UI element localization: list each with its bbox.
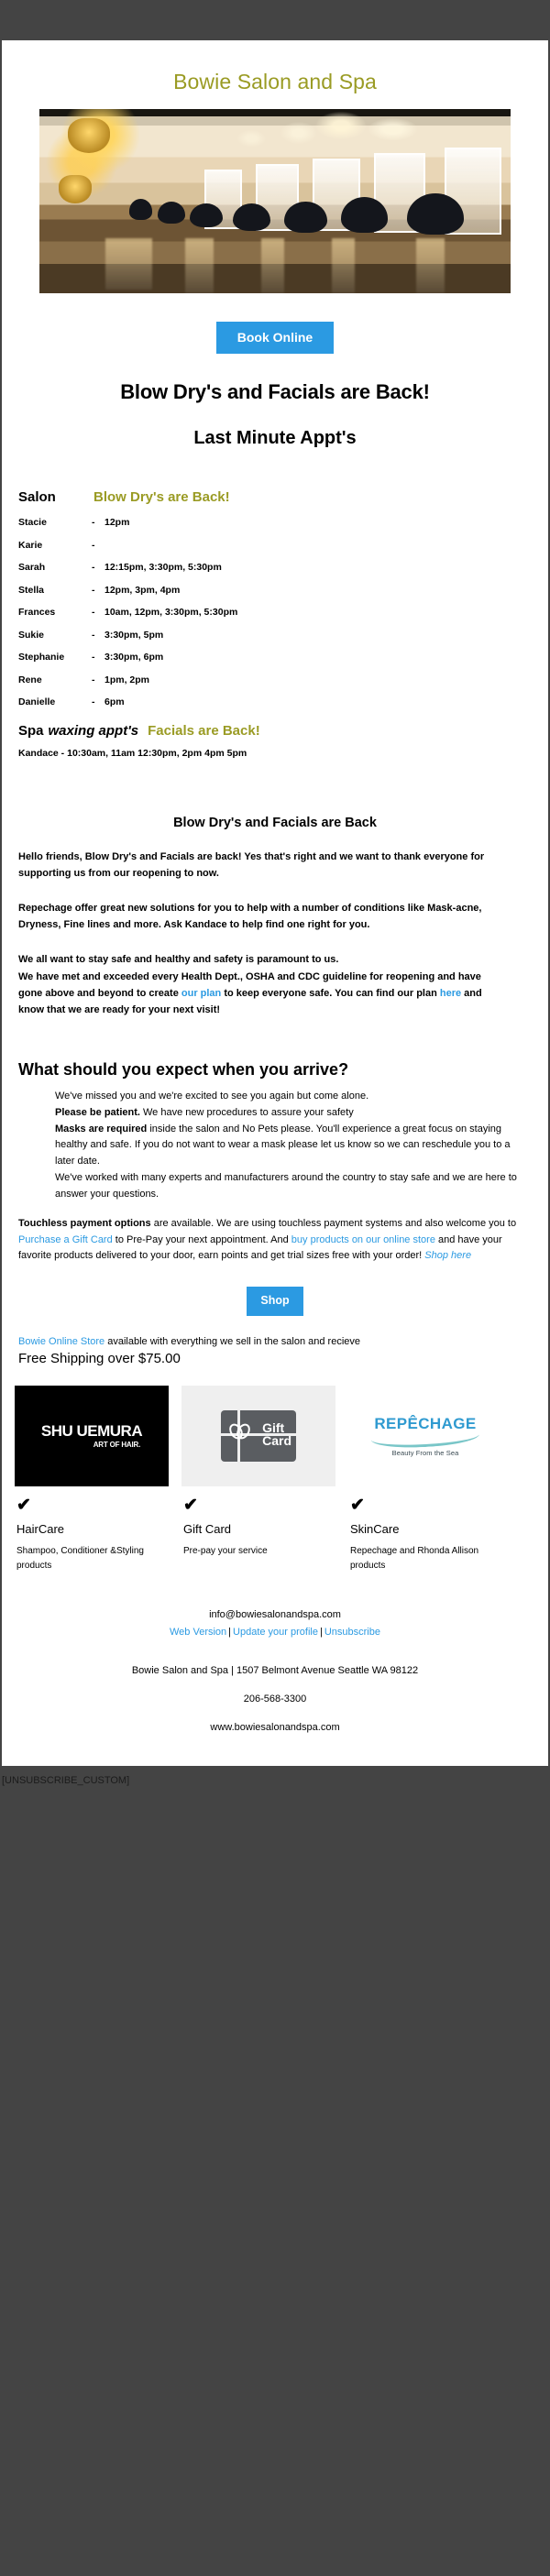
chandelier-icon [68, 118, 110, 153]
salon-label: Salon [18, 489, 93, 505]
table-row: Rene - 1pm, 2pm [18, 674, 548, 697]
stylist-name: Danielle [18, 696, 92, 707]
paragraph-repechage: Repechage offer great new solutions for … [2, 882, 548, 933]
product-column-giftcard: Gift Card ✔ Gift Card Pre-pay your servi… [181, 1386, 335, 1574]
shu-uemura-logo: SHU UEMURA ART OF HAIR. [15, 1386, 169, 1486]
purchase-gift-card-link[interactable]: Purchase a Gift Card [18, 1234, 113, 1245]
bottom-frame-bar: [UNSUBSCRIBE_CUSTOM] [0, 1766, 550, 1832]
stylist-times: 1pm, 2pm [104, 674, 149, 685]
page-title: Bowie Salon and Spa [2, 40, 548, 109]
top-frame-bar [0, 0, 550, 40]
salon-chair [407, 193, 464, 234]
stylist-times: 10am, 12pm, 3:30pm, 5:30pm [104, 607, 237, 618]
row-dash: - [92, 517, 104, 528]
stylist-name: Stella [18, 585, 92, 596]
stylist-times: 12pm [104, 517, 129, 528]
touchless-text-1: are available. We are using touchless pa… [151, 1218, 516, 1229]
gift-card-text-line1: Gift [262, 1421, 291, 1434]
email-card: Bowie Salon and Spa [2, 40, 548, 1766]
bowie-online-store-link[interactable]: Bowie Online Store [18, 1336, 104, 1347]
shu-uemura-name: SHU UEMURA [41, 1422, 142, 1441]
unsubscribe-link[interactable]: Unsubscribe [324, 1627, 380, 1638]
salon-interior-image [39, 109, 511, 293]
table-row: Stacie - 12pm [18, 517, 548, 540]
repechage-logo: REPÊCHAGE Beauty From the Sea [348, 1386, 502, 1486]
safety-line-3: to keep everyone safe. You can find our … [221, 988, 440, 999]
here-link[interactable]: here [440, 988, 461, 999]
headline-primary: Blow Dry's and Facials are Back! [2, 354, 548, 404]
email-page: Bowie Salon and Spa [0, 0, 550, 1832]
update-profile-link[interactable]: Update your profile [233, 1627, 318, 1638]
touchless-bold: Touchless payment options [18, 1218, 151, 1229]
spa-label: Spa [18, 723, 44, 739]
expect-line-1: We've missed you and we're excited to se… [55, 1091, 368, 1102]
footer-address: Bowie Salon and Spa | 1507 Belmont Avenu… [18, 1638, 532, 1676]
row-dash: - [92, 652, 104, 663]
stylist-name: Rene [18, 674, 92, 685]
free-shipping-text: Free Shipping over $75.00 [2, 1347, 548, 1366]
spa-header-row: Spa waxing appt's Facials are Back! [18, 719, 548, 748]
product-description: Shampoo, Conditioner &Styling products [15, 1536, 169, 1574]
table-row: Kandace - 10:30am, 11am 12:30pm, 2pm 4pm… [18, 748, 548, 759]
spa-accent-label: Facials are Back! [138, 723, 260, 739]
expect-line-4: We've worked with many experts and manuf… [55, 1172, 517, 1200]
footer-phone: 206-568-3300 [18, 1676, 532, 1705]
repechage-name: REPÊCHAGE [371, 1415, 479, 1433]
table-row: Stella - 12pm, 3pm, 4pm [18, 585, 548, 608]
our-plan-link[interactable]: our plan [181, 988, 221, 999]
web-version-link[interactable]: Web Version [170, 1627, 226, 1638]
row-dash: - [92, 674, 104, 685]
appointments-schedule: Salon Blow Dry's are Back! Stacie - 12pm… [2, 449, 548, 759]
row-dash: - [92, 562, 104, 573]
expect-line-2: We have new procedures to assure your sa… [140, 1107, 354, 1118]
schedule-header-row: Salon Blow Dry's are Back! [18, 489, 548, 517]
footer-website: www.bowiesalonandspa.com [18, 1705, 532, 1764]
unsubscribe-custom-token: [UNSUBSCRIBE_CUSTOM] [2, 1775, 129, 1786]
stylist-name: Stephanie [18, 652, 92, 663]
stylist-times: 6pm [104, 696, 125, 707]
salon-accent-label: Blow Dry's are Back! [93, 489, 230, 505]
stylist-name: Sarah [18, 562, 92, 573]
table-row: Sarah - 12:15pm, 3:30pm, 5:30pm [18, 562, 548, 585]
floor-reflection [105, 238, 152, 290]
salon-chair [158, 202, 186, 224]
store-line: Bowie Online Store available with everyt… [2, 1316, 548, 1347]
touchless-paragraph: Touchless payment options are available.… [2, 1203, 548, 1265]
check-icon: ✔ [348, 1486, 502, 1514]
footer-separator: | [318, 1627, 324, 1638]
floor-reflection [261, 238, 285, 293]
stylist-name: Frances [18, 607, 92, 618]
product-title: HairCare [15, 1514, 169, 1536]
salon-chair [129, 199, 153, 219]
floor-reflection [185, 238, 214, 293]
headline-secondary: Last Minute Appt's [2, 404, 548, 449]
stylist-times: 12:15pm, 3:30pm, 5:30pm [104, 562, 222, 573]
salon-chair [284, 202, 326, 233]
body-heading: Blow Dry's and Facials are Back [2, 759, 548, 830]
product-title: SkinCare [348, 1514, 502, 1536]
stylist-name: Karie [18, 540, 92, 551]
touchless-text-2: to Pre-Pay your next appointment. And [113, 1234, 291, 1245]
stylist-name: Stacie [18, 517, 92, 528]
expect-bold-patient: Please be patient. [55, 1107, 140, 1118]
shop-here-link[interactable]: Shop here [424, 1250, 471, 1261]
hero-image-wrap [2, 109, 548, 293]
stylist-times: 3:30pm, 5pm [104, 630, 163, 641]
stylist-name: Sukie [18, 630, 92, 641]
footer-links: Web Version|Update your profile|Unsubscr… [18, 1620, 532, 1638]
chandelier-icon [59, 175, 92, 203]
safety-line-1: We all want to stay safe and healthy and… [18, 954, 338, 965]
expect-heading: What should you expect when you arrive? [2, 1018, 548, 1080]
repechage-tagline: Beauty From the Sea [371, 1447, 479, 1457]
book-online-button[interactable]: Book Online [216, 322, 334, 354]
row-dash: - [92, 607, 104, 618]
gift-card-text-line2: Card [262, 1434, 291, 1447]
paragraph-intro: Hello friends, Blow Dry's and Facials ar… [2, 830, 548, 882]
shop-button[interactable]: Shop [247, 1287, 302, 1316]
shu-uemura-tagline: ART OF HAIR. [41, 1441, 142, 1449]
expect-paragraph: We've missed you and we're excited to se… [2, 1080, 548, 1203]
row-dash: - [92, 696, 104, 707]
product-description: Pre-pay your service [181, 1536, 335, 1560]
product-columns: SHU UEMURA ART OF HAIR. ✔ HairCare Shamp… [2, 1366, 548, 1574]
footer-separator: | [226, 1627, 233, 1638]
check-icon: ✔ [181, 1486, 335, 1514]
floor-reflection [332, 238, 356, 293]
product-title: Gift Card [181, 1514, 335, 1536]
gift-card-icon: Gift Card [221, 1410, 296, 1462]
table-row: Danielle - 6pm [18, 696, 548, 719]
salon-chair [341, 197, 388, 232]
stylist-times: 3:30pm, 6pm [104, 652, 163, 663]
stylist-times: 12pm, 3pm, 4pm [104, 585, 180, 596]
row-dash: - [92, 585, 104, 596]
row-dash: - [92, 630, 104, 641]
product-description: Repechage and Rhonda Allison products [348, 1536, 502, 1574]
store-line-text: available with everything we sell in the… [104, 1336, 360, 1347]
expect-bold-masks: Masks are required [55, 1124, 147, 1135]
table-row: Sukie - 3:30pm, 5pm [18, 630, 548, 652]
product-column-skincare: REPÊCHAGE Beauty From the Sea ✔ SkinCare… [348, 1386, 502, 1574]
online-store-link[interactable]: buy products on our online store [291, 1234, 435, 1245]
row-dash: - [92, 540, 104, 551]
table-row: Stephanie - 3:30pm, 6pm [18, 652, 548, 674]
table-row: Frances - 10am, 12pm, 3:30pm, 5:30pm [18, 607, 548, 630]
product-column-haircare: SHU UEMURA ART OF HAIR. ✔ HairCare Shamp… [15, 1386, 169, 1574]
floor-reflection [416, 238, 445, 293]
paragraph-safety: We all want to stay safe and healthy and… [2, 933, 548, 1018]
book-online-row: Book Online [2, 293, 548, 354]
table-row: Karie - [18, 540, 548, 563]
footer-email: info@bowiesalonandspa.com [18, 1609, 532, 1620]
shop-button-row: Shop [2, 1265, 548, 1316]
check-icon: ✔ [15, 1486, 169, 1514]
gift-card-logo: Gift Card [181, 1386, 335, 1486]
spa-italic-label: waxing appt's [44, 723, 139, 739]
email-footer: info@bowiesalonandspa.com Web Version|Up… [2, 1574, 548, 1764]
